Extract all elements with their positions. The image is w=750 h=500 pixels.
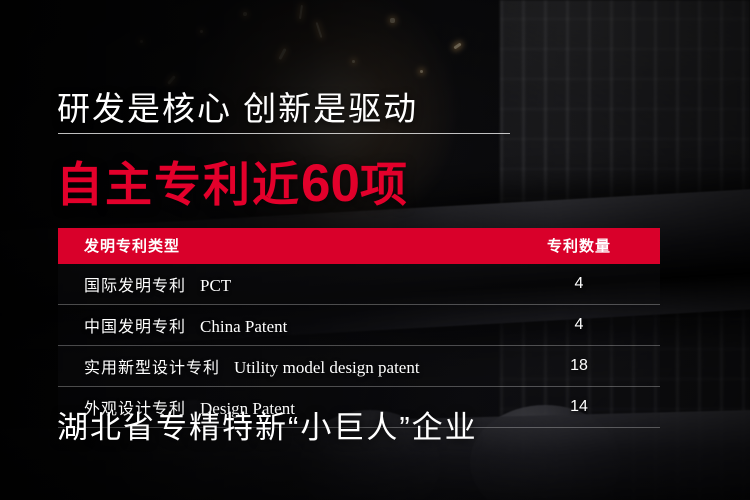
patent-table-head: 发明专利类型 专利数量 xyxy=(58,228,660,264)
highlight-line: 自主专利近60项 xyxy=(56,146,409,215)
cell-patent-type: 中国发明专利China Patent xyxy=(58,305,498,346)
highlight-prefix: 自主专利近 xyxy=(56,158,301,211)
cell-patent-count: 4 xyxy=(498,264,660,305)
patent-type-zh: 中国发明专利 xyxy=(84,319,186,336)
poster-content: 研发是核心 创新是驱动 自主专利近60项 发明专利类型 专利数量 国际发明专利P… xyxy=(0,0,750,500)
cell-patent-count: 14 xyxy=(498,387,660,428)
cell-patent-count: 18 xyxy=(498,346,660,387)
table-row: 中国发明专利China Patent 4 xyxy=(58,305,660,346)
headline-text: 研发是核心 创新是驱动 xyxy=(57,82,418,130)
table-row: 国际发明专利PCT 4 xyxy=(58,264,660,305)
cell-patent-type: 国际发明专利PCT xyxy=(58,264,498,305)
patent-type-en: Utility model design patent xyxy=(234,358,420,377)
footer-text: 湖北省专精特新“小巨人”企业 xyxy=(57,402,478,447)
table-row: 实用新型设计专利Utility model design patent 18 xyxy=(58,346,660,387)
column-header-count: 专利数量 xyxy=(498,228,660,264)
patent-table: 发明专利类型 专利数量 国际发明专利PCT 4 中国发明专利China Pate… xyxy=(58,228,660,428)
cell-patent-count: 4 xyxy=(498,305,660,346)
patent-type-en: China Patent xyxy=(200,317,287,336)
patent-type-zh: 国际发明专利 xyxy=(84,278,186,295)
highlight-suffix: 项 xyxy=(360,158,409,211)
table-header-row: 发明专利类型 专利数量 xyxy=(58,228,660,264)
patent-type-zh: 实用新型设计专利 xyxy=(84,360,220,377)
column-header-type: 发明专利类型 xyxy=(58,228,498,264)
patent-type-en: PCT xyxy=(200,276,231,295)
cell-patent-type: 实用新型设计专利Utility model design patent xyxy=(58,346,498,387)
highlight-number: 60 xyxy=(301,154,360,213)
poster-root: 研发是核心 创新是驱动 自主专利近60项 发明专利类型 专利数量 国际发明专利P… xyxy=(0,0,750,500)
headline-divider xyxy=(58,133,510,134)
